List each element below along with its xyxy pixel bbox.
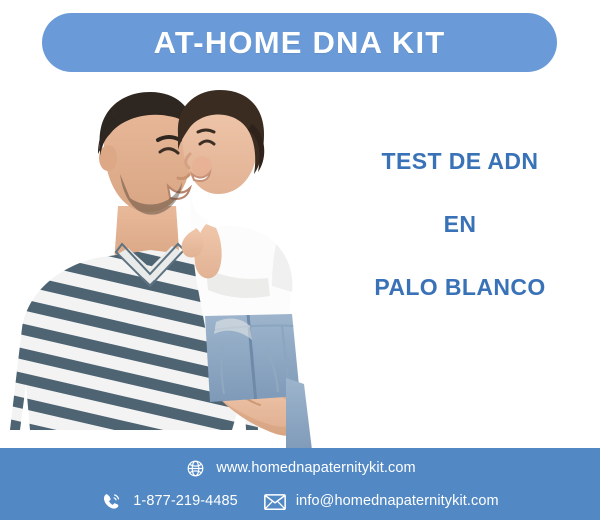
footer-row-website: www.homednapaternitykit.com [184, 458, 415, 480]
envelope-icon [264, 491, 286, 513]
headline-block: TEST DE ADN EN PALO BLANCO [330, 150, 590, 299]
phone-label: 1-877-219-4485 [133, 494, 238, 509]
website-item[interactable]: www.homednapaternitykit.com [184, 458, 415, 480]
email-label: info@homednapaternitykit.com [296, 494, 499, 509]
hero-photo [0, 78, 330, 460]
banner-title: AT-HOME DNA KIT [154, 25, 446, 61]
footer-row-contact: 1-877-219-4485 info@homednapaternitykit.… [101, 491, 499, 513]
headline-line-3: PALO BLANCO [330, 276, 590, 299]
headline-line-1: TEST DE ADN [330, 150, 590, 173]
headline-line-2: EN [330, 213, 590, 236]
title-banner: AT-HOME DNA KIT [42, 13, 557, 72]
email-item[interactable]: info@homednapaternitykit.com [264, 491, 499, 513]
website-label: www.homednapaternitykit.com [216, 461, 415, 476]
contact-footer: www.homednapaternitykit.com 1-877-219-44… [0, 448, 600, 520]
phone-item[interactable]: 1-877-219-4485 [101, 491, 238, 513]
globe-icon [184, 458, 206, 480]
phone-icon [101, 491, 123, 513]
